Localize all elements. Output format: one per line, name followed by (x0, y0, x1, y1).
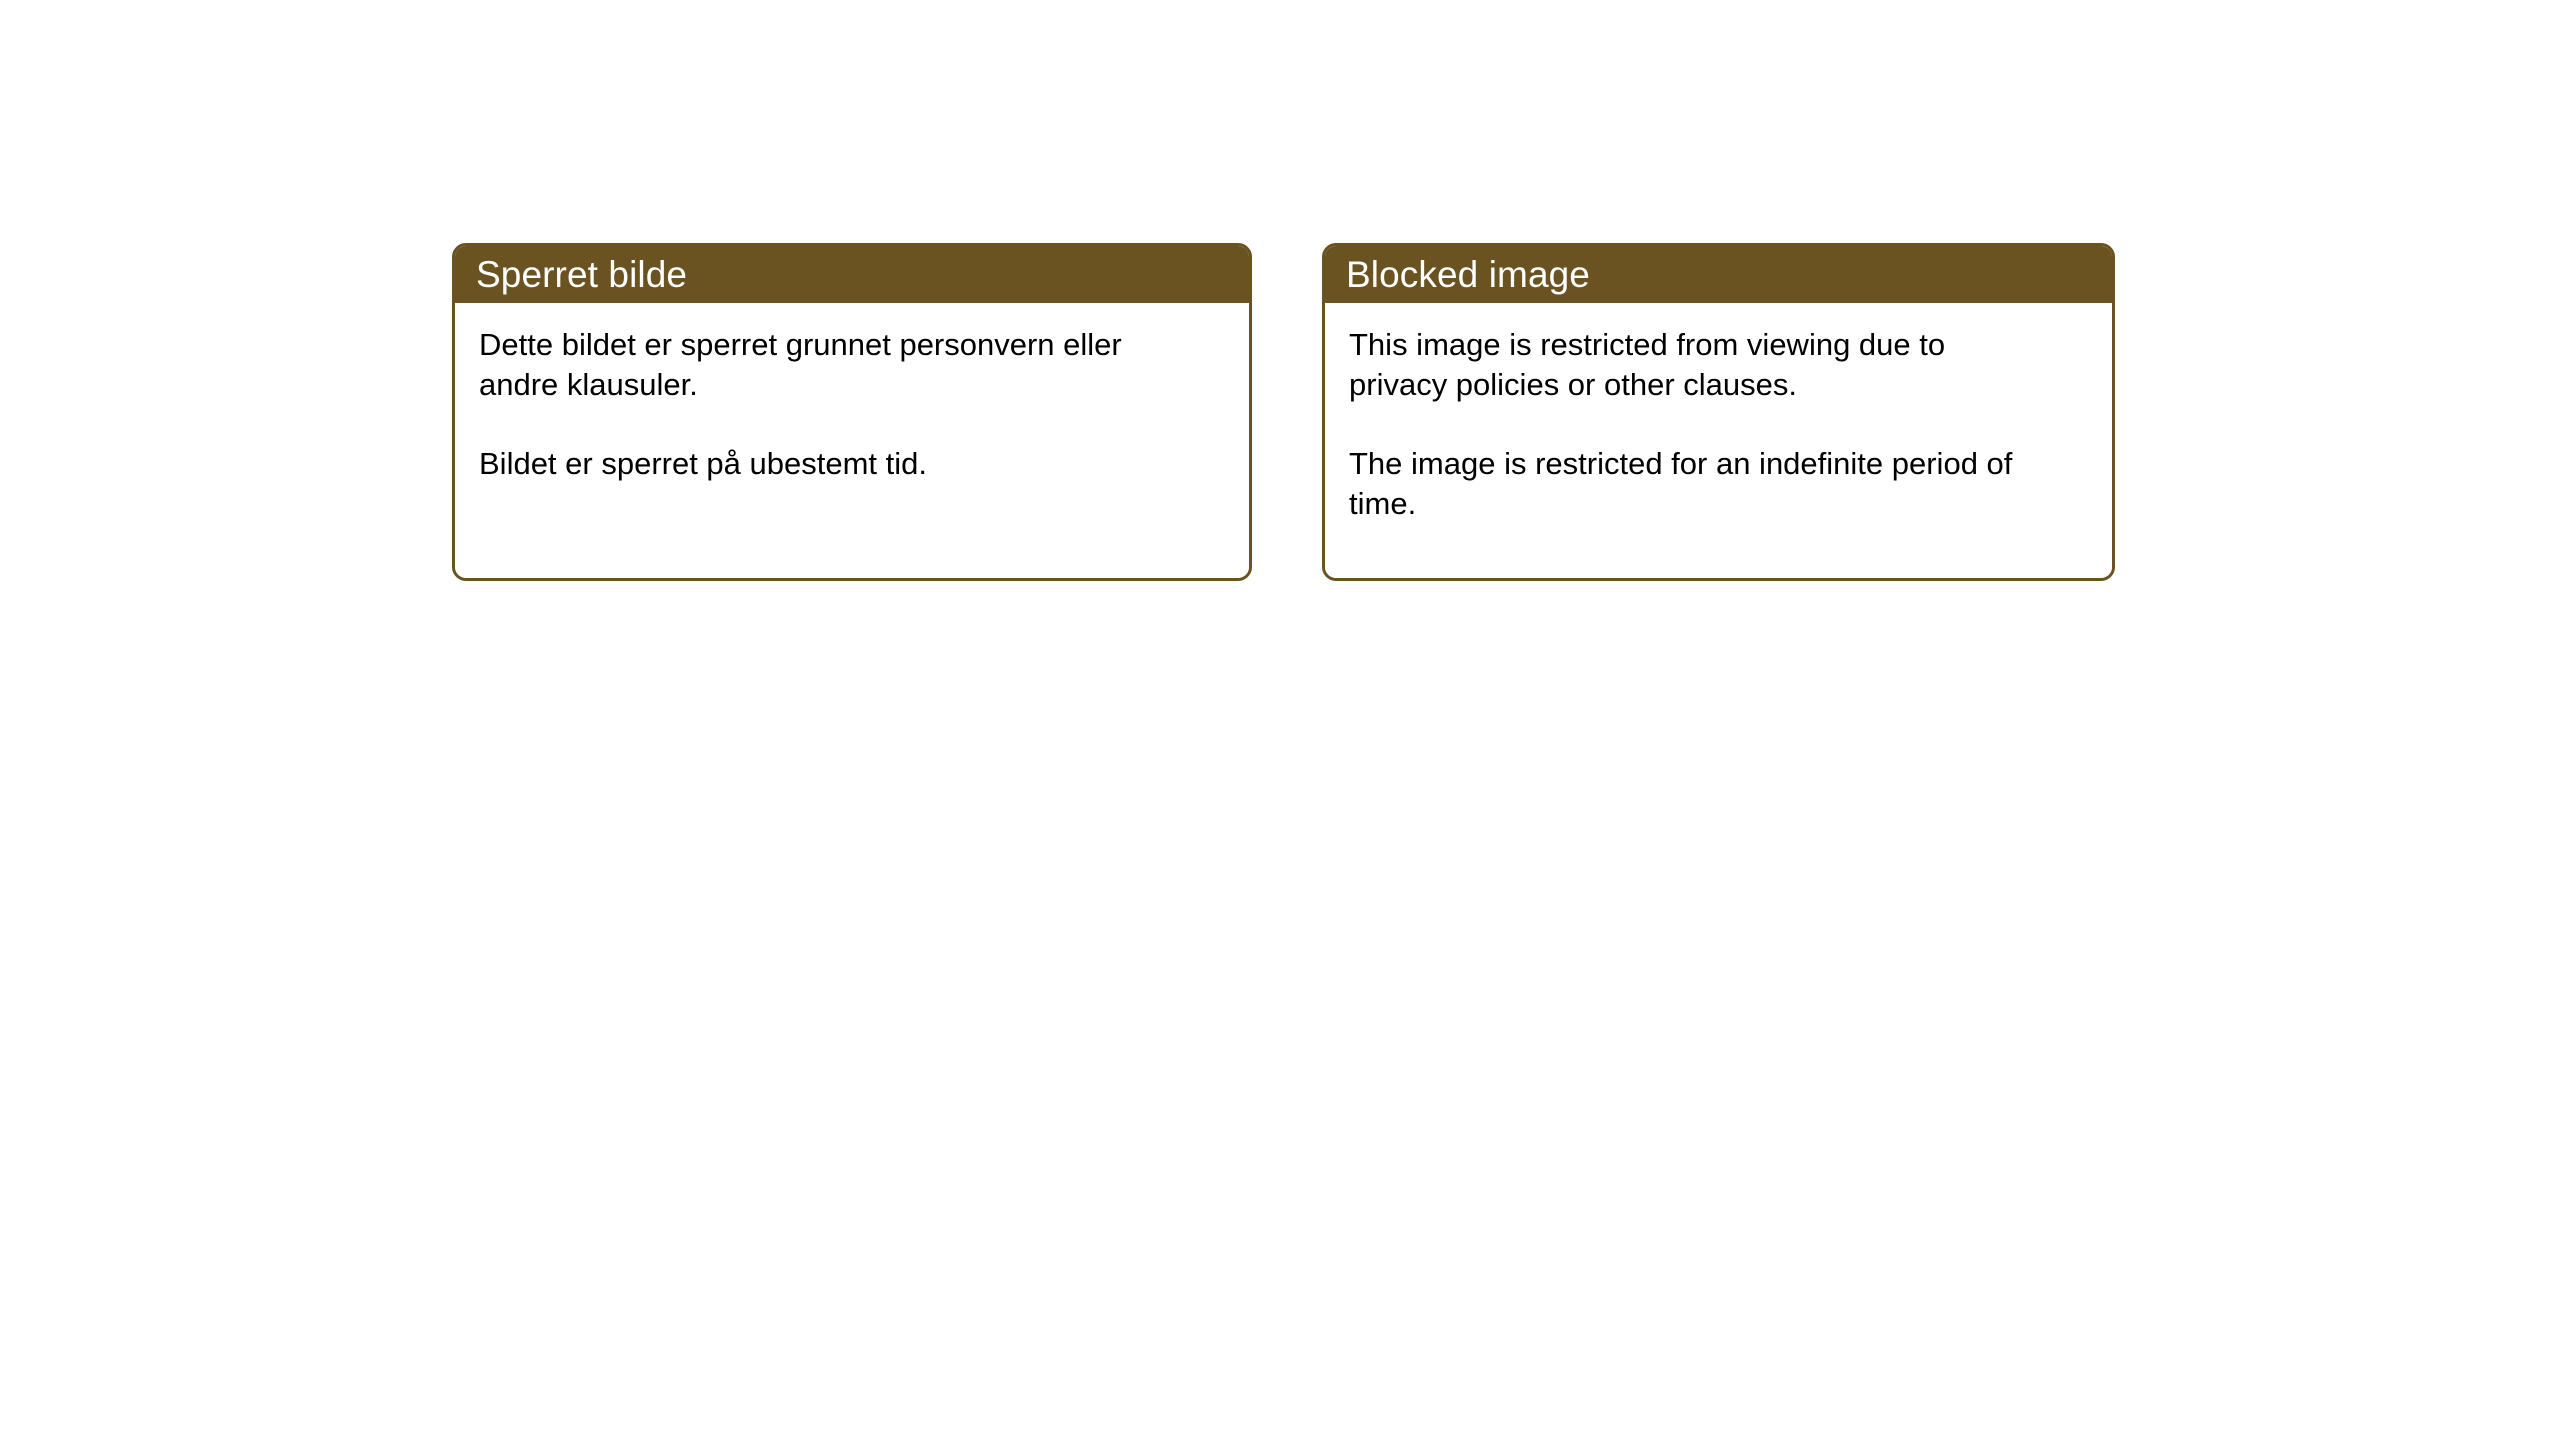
card-header-norwegian: Sperret bilde (455, 246, 1249, 303)
blocked-image-notice-card-english: Blocked image This image is restricted f… (1322, 243, 2115, 581)
card-paragraph-privacy-english: This image is restricted from viewing du… (1349, 325, 2039, 405)
card-paragraph-duration-english: The image is restricted for an indefinit… (1349, 444, 2039, 524)
blocked-image-notice-card-norwegian: Sperret bilde Dette bildet er sperret gr… (452, 243, 1252, 581)
page-root: Sperret bilde Dette bildet er sperret gr… (0, 0, 2560, 1440)
card-body-norwegian: Dette bildet er sperret grunnet personve… (455, 303, 1249, 578)
card-title-english: Blocked image (1346, 255, 1590, 295)
card-paragraph-duration-norwegian: Bildet er sperret på ubestemt tid. (479, 444, 1179, 484)
card-header-english: Blocked image (1325, 246, 2112, 303)
card-body-english: This image is restricted from viewing du… (1325, 303, 2112, 578)
card-paragraph-privacy-norwegian: Dette bildet er sperret grunnet personve… (479, 325, 1179, 405)
card-title-norwegian: Sperret bilde (476, 255, 687, 295)
notice-card-group: Sperret bilde Dette bildet er sperret gr… (452, 243, 2115, 581)
